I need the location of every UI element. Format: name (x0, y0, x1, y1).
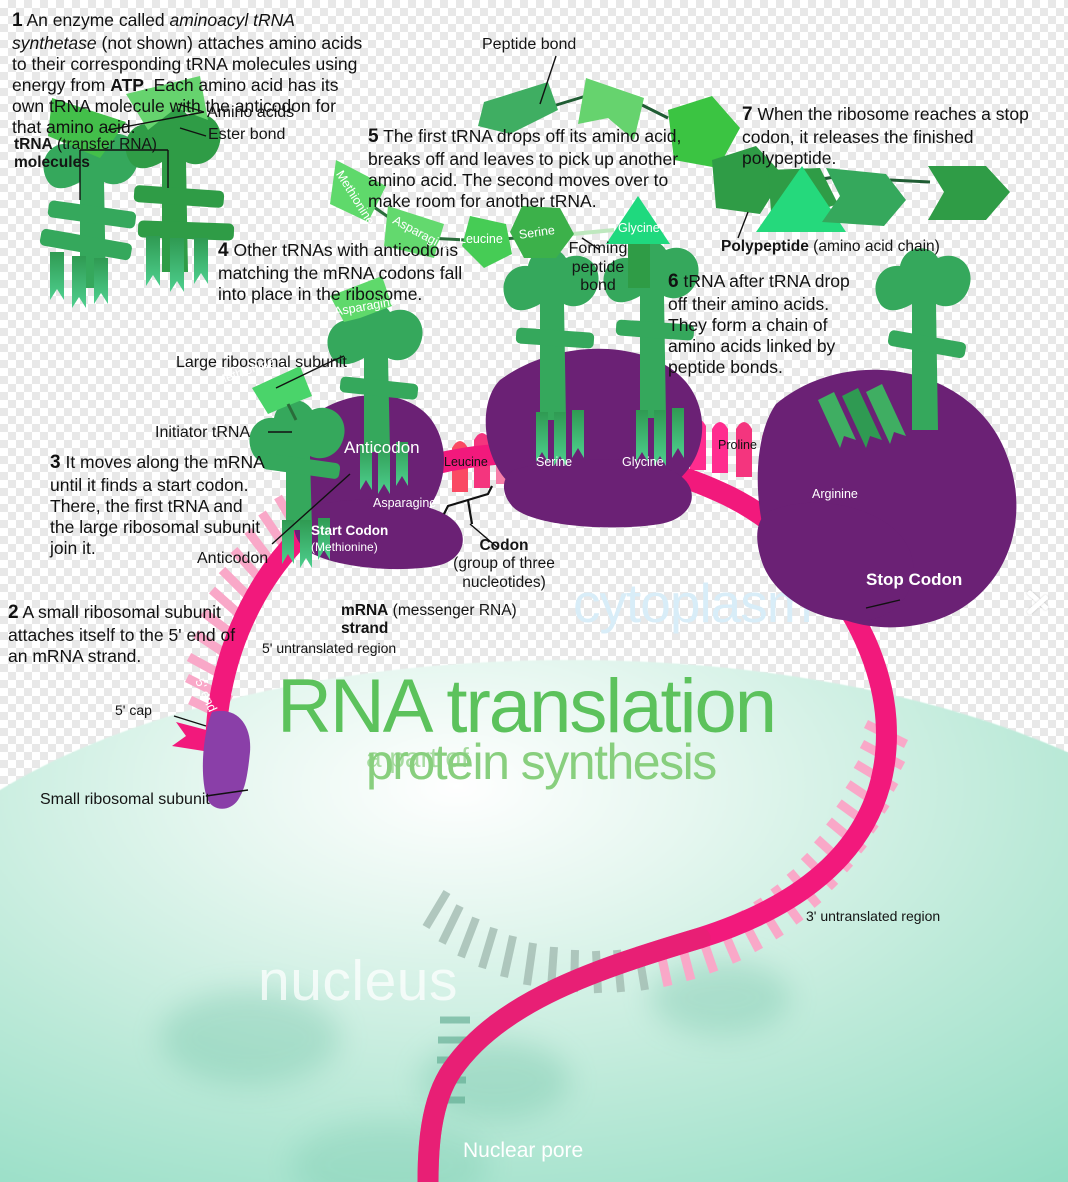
label-5-utr: 5' untranslated region (262, 640, 396, 656)
label-trna-molecules-line2: molecules (14, 154, 90, 171)
chain-label-leucine: Leucine (459, 232, 503, 246)
nucleus-watermark: nucleus (258, 948, 458, 1014)
poly-aa-5 (768, 168, 838, 226)
label-5-cap: 5' cap (115, 702, 152, 718)
codon-label-proline: Proline (718, 438, 757, 452)
step-2-text: 2 A small ribosomal subunit attaches its… (8, 602, 258, 667)
step-3-number: 3 (50, 452, 61, 473)
label-codon-l3: nucleotides) (462, 574, 546, 591)
label-anticodon-inner: Anticodon (344, 438, 420, 458)
label-mrna-l2: strand (341, 620, 388, 637)
label-3-utr: 3' untranslated region (806, 908, 940, 924)
label-forming-l2: peptide bond (572, 259, 625, 295)
label-peptide-bond: Peptide bond (482, 36, 576, 55)
step-3-body: It moves along the mRNA until it finds a… (50, 452, 264, 558)
step-5-number: 5 (368, 126, 379, 147)
codon-label-leucine: Leucine (444, 455, 488, 469)
cytoplasm-watermark: cytoplasm (573, 571, 812, 635)
step-6-body: tRNA after tRNA drop off their amino aci… (668, 271, 850, 377)
label-polypeptide-rest: (amino acid chain) (809, 238, 940, 255)
mrna-coding-nucleotides (300, 406, 884, 582)
step-6-text: 6 tRNA after tRNA drop off their amino a… (668, 271, 864, 378)
poly-aa-7 (822, 168, 906, 226)
large-ribosomal-subunit-left (288, 395, 444, 542)
infographic-canvas: nucleus Nuclear pore cytoplasm RNA trans… (0, 0, 1068, 1182)
step-2-body: A small ribosomal subunit attaches itsel… (8, 602, 235, 666)
chain-label-serine: Serine (518, 223, 556, 242)
ribosome-center-lower-lobe (504, 459, 692, 527)
label-polypeptide-bold: Polypeptide (721, 238, 809, 255)
label-small-ribosomal-subunit: Small ribosomal subunit (40, 791, 210, 810)
codon-label-asparagine: Asparagine (373, 496, 436, 510)
label-start-codon-l2: (Methionine) (311, 540, 378, 554)
label-mrna-rest: (messenger RNA) (388, 602, 516, 619)
step-1-seg-0: An enzyme called (26, 10, 169, 30)
codon-label-serine: Serine (536, 455, 572, 469)
label-initiator-trna: Initiator tRNA (155, 424, 250, 443)
poly-aa-triangle (756, 166, 846, 232)
label-trna-molecules: tRNA (transfer RNA) molecules (14, 136, 157, 172)
label-forming-peptide-bond: Forming peptide bond (552, 240, 644, 296)
label-start-codon-l1: Start Codon (311, 523, 388, 538)
step-5-body: The first tRNA drops off its amino acid,… (368, 126, 681, 211)
label-mrna-strand: mRNA (messenger RNA) strand (341, 602, 517, 638)
step-4-body: Other tRNAs with anticodons matching the… (218, 240, 462, 304)
step-1-text: 1 An enzyme called aminoacyl tRNA synthe… (12, 10, 364, 138)
label-start-codon: Start Codon (Methionine) (311, 523, 388, 554)
step-1-number: 1 (12, 10, 23, 31)
step-3-text: 3 It moves along the mRNA until it finds… (50, 452, 268, 559)
label-codon-l2: (group of three (453, 555, 555, 572)
label-codon-bold: Codon (479, 537, 528, 554)
label-forming-l1: Forming (569, 240, 628, 257)
step-4-number: 4 (218, 240, 229, 261)
label-codon: Codon (group of three nucleotides) (440, 537, 568, 592)
label-ester-bond: Ester bond (208, 126, 285, 145)
step-7-number: 7 (742, 104, 753, 125)
chain-label-glycine: Glycine (618, 221, 660, 235)
label-anticodon-outer: Anticodon (197, 550, 268, 569)
chevron-right-icon[interactable] (1028, 578, 1054, 622)
label-trna-molecules-rest: (transfer RNA) (53, 136, 157, 153)
step-1-seg-3: ATP (110, 75, 144, 95)
codon-bracket (444, 486, 492, 524)
poly-aa-8 (928, 166, 1010, 220)
label-stop-codon: Stop Codon (866, 570, 962, 590)
step-5-text: 5 The first tRNA drops off its amino aci… (368, 126, 704, 212)
step-7-body: When the ribosome reaches a stop codon, … (742, 104, 1029, 168)
label-trna-molecules-bold: tRNA (14, 136, 53, 153)
label-mrna-bold: mRNA (341, 602, 388, 619)
label-polypeptide: Polypeptide (amino acid chain) (721, 238, 940, 256)
step-2-number: 2 (8, 602, 19, 623)
step-7-text: 7 When the ribosome reaches a stop codon… (742, 104, 1064, 169)
step-6-number: 6 (668, 271, 679, 292)
nuclear-pore-label: Nuclear pore (463, 1139, 583, 1163)
codon-label-arginine: Arginine (812, 487, 858, 501)
page-subtitle: protein synthesis (366, 733, 716, 791)
label-amino-acids: Amino acids (207, 104, 294, 123)
codon-label-glycine: Glycine (622, 455, 664, 469)
